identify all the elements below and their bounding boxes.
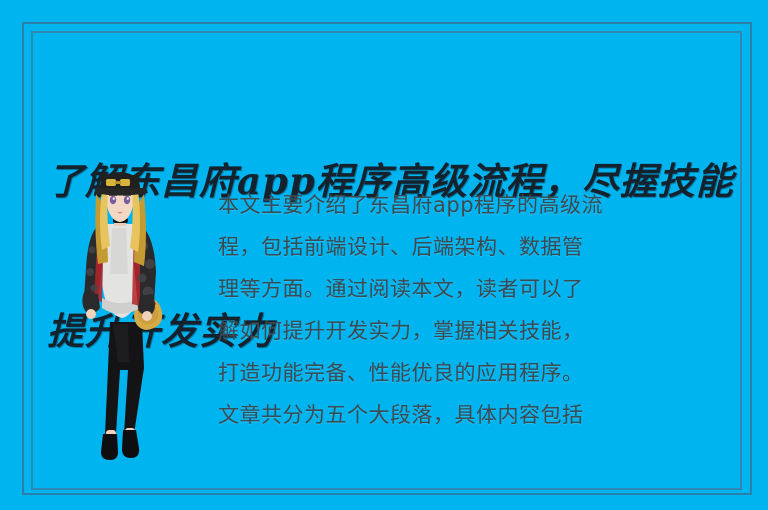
body-line: 文章共分为五个大段落，具体内容包括: [218, 394, 738, 436]
body-line: 理等方面。通过阅读本文，读者可以了: [218, 268, 738, 310]
body-line: 本文主要介绍了东昌府app程序的高级流: [218, 184, 738, 226]
body-paragraph: 本文主要介绍了东昌府app程序的高级流 程，包括前端设计、后端架构、数据管 理等…: [218, 184, 738, 436]
anime-girl-illustration: [72, 172, 180, 477]
body-line: 程，包括前端设计、后端架构、数据管: [218, 226, 738, 268]
body-line: 解如何提升开发实力，掌握相关技能，: [218, 310, 738, 352]
poster-canvas: 了解东昌府app程序高级流程，尽握技能 提升开发实力: [0, 0, 768, 510]
anime-girl-svg: [72, 172, 180, 477]
body-line: 打造功能完备、性能优良的应用程序。: [218, 352, 738, 394]
